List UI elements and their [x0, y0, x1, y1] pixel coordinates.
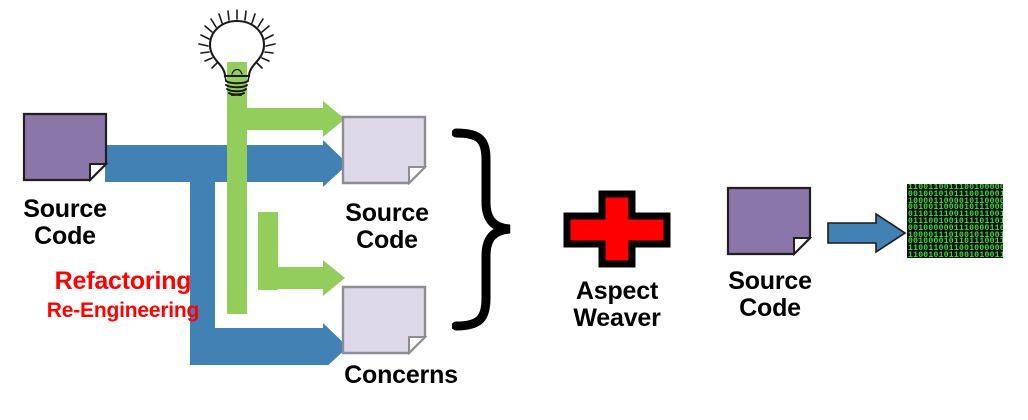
lightbulb-icon — [188, 4, 288, 96]
red-plus-icon — [562, 190, 672, 268]
concerns-label: Concerns — [316, 362, 486, 389]
diagram-canvas: Source Code Refactoring Re-Engineering S… — [0, 0, 1028, 420]
green-split-arrow — [218, 62, 353, 322]
document-icon-source-output — [341, 115, 427, 185]
curly-brace-icon — [452, 128, 532, 332]
document-icon-source-woven — [726, 186, 812, 256]
source-code-input-label: Source Code — [0, 196, 130, 250]
refactoring-label: Refactoring — [18, 268, 228, 295]
document-icon-concerns — [341, 285, 427, 355]
aspect-weaver-label: Aspect Weaver — [552, 278, 682, 332]
document-icon-source-input — [22, 112, 108, 182]
source-code-output-label: Source Code — [322, 200, 452, 254]
source-code-woven-label: Source Code — [705, 268, 835, 322]
binary-code-icon: 1100110011100100000 0010010101110010001 … — [907, 184, 1003, 258]
re-engineering-label: Re-Engineering — [8, 300, 238, 323]
compile-arrow — [826, 212, 908, 256]
